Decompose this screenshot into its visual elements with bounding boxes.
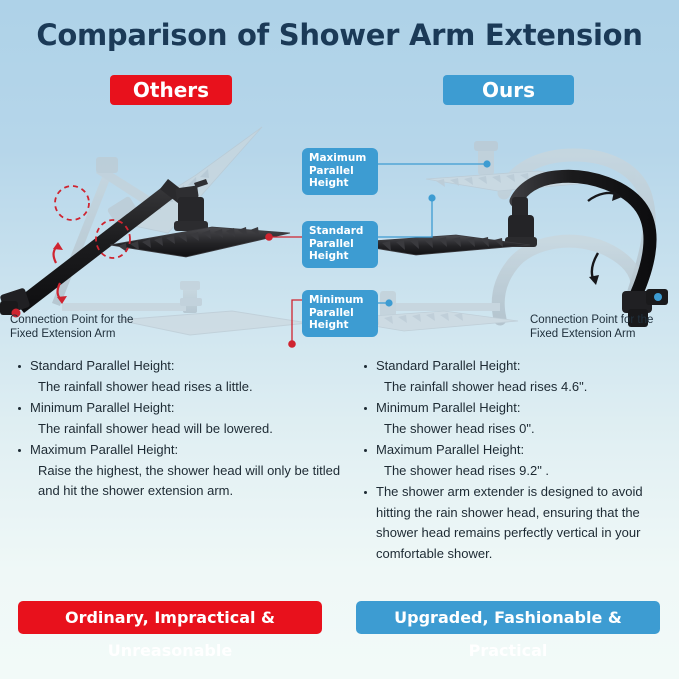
list-item-heading: Standard Parallel Height: xyxy=(30,358,175,373)
list-item-heading: Standard Parallel Height: xyxy=(376,358,521,373)
collision-marker-upper xyxy=(55,186,89,220)
list-item: Maximum Parallel Height: The shower head… xyxy=(362,440,672,481)
badge-ours: Ours xyxy=(443,75,574,105)
list-item: Minimum Parallel Height: The rainfall sh… xyxy=(16,398,346,439)
feature-list-others-items: Standard Parallel Height: The rainfall s… xyxy=(16,356,346,502)
connection-caption-ours-line2: Fixed Extension Arm xyxy=(530,328,635,340)
connection-caption-others-line1: Connection Point for the xyxy=(10,314,133,326)
list-item: Minimum Parallel Height: The shower head… xyxy=(362,398,672,439)
list-item-detail: The shower head rises 9.2" . xyxy=(376,461,672,482)
callout-minimum-line1: Minimum xyxy=(309,294,363,306)
callout-maximum-parallel-height: Maximum Parallel Height xyxy=(302,148,378,195)
connection-caption-ours-line1: Connection Point for the xyxy=(530,314,653,326)
list-item: Maximum Parallel Height: Raise the highe… xyxy=(16,440,346,502)
connection-point-caption-ours: Connection Point for the Fixed Extension… xyxy=(530,314,679,341)
callout-standard-line2: Parallel Height xyxy=(309,238,354,263)
page-title: Comparison of Shower Arm Extension xyxy=(0,18,679,52)
list-item-detail: The rainfall shower head rises 4.6". xyxy=(376,377,672,398)
list-item-detail: The shower arm extender is designed to a… xyxy=(376,484,643,561)
list-item-detail: The rainfall shower head rises a little. xyxy=(30,377,346,398)
list-item-detail: The shower head rises 0". xyxy=(376,419,672,440)
connection-caption-others-line2: Fixed Extension Arm xyxy=(10,328,115,340)
ghost-extender-high xyxy=(426,141,649,291)
ghost-arm-high xyxy=(52,127,262,306)
list-item-heading: Maximum Parallel Height: xyxy=(376,442,524,457)
connection-point-caption-others: Connection Point for the Fixed Extension… xyxy=(10,314,170,341)
feature-list-others: Standard Parallel Height: The rainfall s… xyxy=(16,356,346,503)
list-item-heading: Minimum Parallel Height: xyxy=(30,400,175,415)
callout-standard-parallel-height: Standard Parallel Height xyxy=(302,221,378,268)
callout-standard-line1: Standard xyxy=(309,225,363,237)
list-item-detail: Raise the highest, the shower head will … xyxy=(30,461,346,502)
callout-minimum-line2: Parallel Height xyxy=(309,307,354,332)
list-item: The shower arm extender is designed to a… xyxy=(362,482,672,564)
callout-maximum-line1: Maximum xyxy=(309,152,366,164)
list-item-heading: Maximum Parallel Height: xyxy=(30,442,178,457)
feature-list-ours-items: Standard Parallel Height: The rainfall s… xyxy=(362,356,672,564)
list-item: Standard Parallel Height: The rainfall s… xyxy=(16,356,346,397)
list-item-detail: The rainfall shower head will be lowered… xyxy=(30,419,346,440)
callout-minimum-parallel-height: Minimum Parallel Height xyxy=(302,290,378,337)
infographic-stage: Comparison of Shower Arm Extension Other… xyxy=(0,0,679,679)
badge-others: Others xyxy=(110,75,232,105)
list-item: Standard Parallel Height: The rainfall s… xyxy=(362,356,672,397)
verdict-banner-others: Ordinary, Impractical & Unreasonable xyxy=(18,601,322,634)
list-item-heading: Minimum Parallel Height: xyxy=(376,400,521,415)
verdict-banner-ours: Upgraded, Fashionable & Practical xyxy=(356,601,660,634)
callout-maximum-line2: Parallel Height xyxy=(309,165,354,190)
feature-list-ours: Standard Parallel Height: The rainfall s… xyxy=(362,356,672,565)
